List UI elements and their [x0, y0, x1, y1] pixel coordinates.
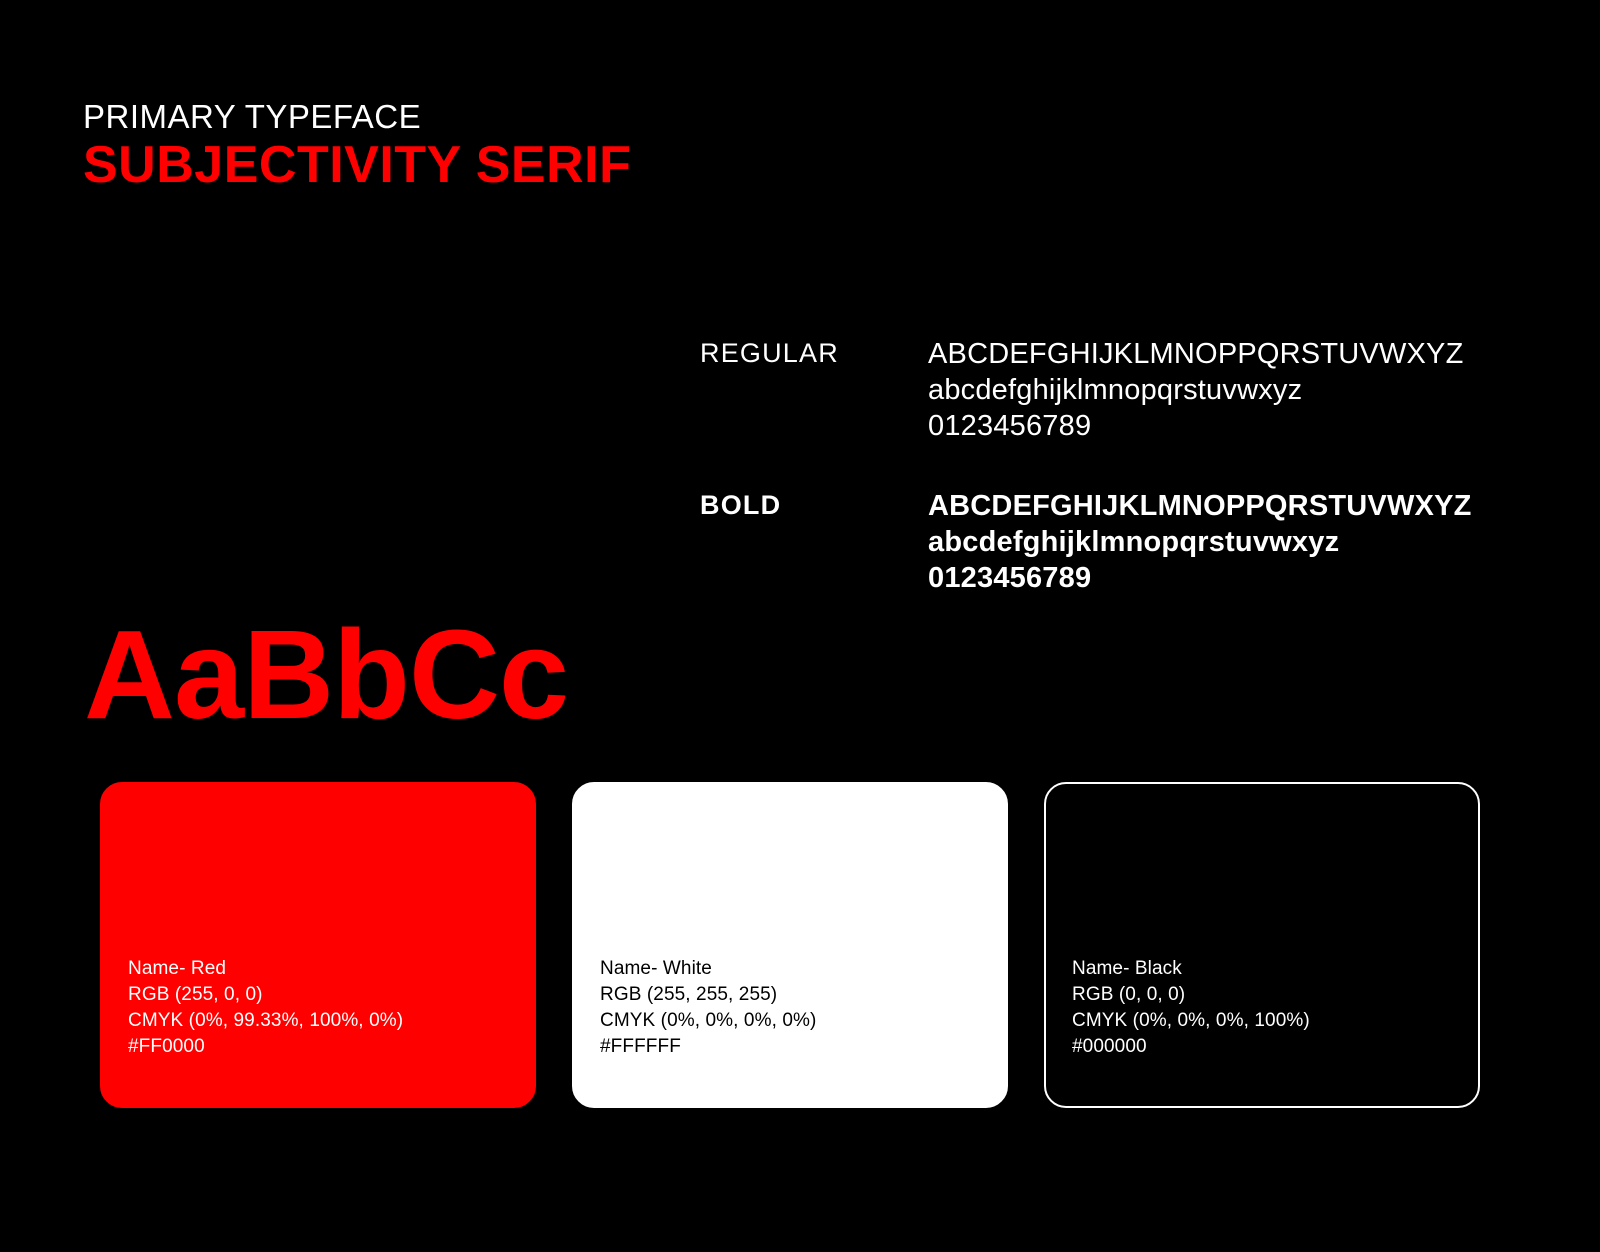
specimen-regular-glyphs: ABCDEFGHIJKLMNOPPQRSTUVWXYZ abcdefghijkl… — [928, 336, 1464, 444]
specimen-regular-weight-label: REGULAR — [700, 336, 928, 370]
color-swatch-white-hex: #FFFFFF — [600, 1034, 1006, 1060]
color-swatch-red-rgb: RGB (255, 0, 0) — [128, 982, 534, 1008]
color-swatch-black-hex: #000000 — [1072, 1034, 1478, 1060]
color-swatch-row: Name- Red RGB (255, 0, 0) CMYK (0%, 99.3… — [100, 782, 1480, 1108]
typeface-eyebrow-label: PRIMARY TYPEFACE — [83, 100, 631, 133]
specimen-bold-weight-label: BOLD — [700, 488, 928, 522]
specimen-regular-lowercase: abcdefghijklmnopqrstuvwxyz — [928, 372, 1464, 408]
color-swatch-black-name: Name- Black — [1072, 956, 1478, 982]
color-swatch-red-name: Name- Red — [128, 956, 534, 982]
page-title: SUBJECTIVITY SERIF — [83, 139, 631, 191]
color-swatch-red[interactable]: Name- Red RGB (255, 0, 0) CMYK (0%, 99.3… — [100, 782, 536, 1108]
color-swatch-white-rgb: RGB (255, 255, 255) — [600, 982, 1006, 1008]
specimen-bold-numerals: 0123456789 — [928, 560, 1472, 596]
brand-style-guide-page: PRIMARY TYPEFACE SUBJECTIVITY SERIF REGU… — [0, 0, 1600, 1252]
color-swatch-black-info: Name- Black RGB (0, 0, 0) CMYK (0%, 0%, … — [1072, 956, 1478, 1060]
specimen-bold-lowercase: abcdefghijklmnopqrstuvwxyz — [928, 524, 1472, 560]
specimen-regular: REGULAR ABCDEFGHIJKLMNOPPQRSTUVWXYZ abcd… — [700, 336, 1464, 444]
color-swatch-red-info: Name- Red RGB (255, 0, 0) CMYK (0%, 99.3… — [128, 956, 534, 1060]
specimen-regular-uppercase: ABCDEFGHIJKLMNOPPQRSTUVWXYZ — [928, 336, 1464, 372]
color-swatch-white[interactable]: Name- White RGB (255, 255, 255) CMYK (0%… — [572, 782, 1008, 1108]
color-swatch-black-cmyk: CMYK (0%, 0%, 0%, 100%) — [1072, 1008, 1478, 1034]
specimen-bold-glyphs: ABCDEFGHIJKLMNOPPQRSTUVWXYZ abcdefghijkl… — [928, 488, 1472, 596]
display-specimen-aabbcc: AaBbCc — [84, 612, 568, 738]
color-swatch-white-info: Name- White RGB (255, 255, 255) CMYK (0%… — [600, 956, 1006, 1060]
color-swatch-white-name: Name- White — [600, 956, 1006, 982]
color-swatch-white-cmyk: CMYK (0%, 0%, 0%, 0%) — [600, 1008, 1006, 1034]
specimen-bold: BOLD ABCDEFGHIJKLMNOPPQRSTUVWXYZ abcdefg… — [700, 488, 1472, 596]
color-swatch-red-hex: #FF0000 — [128, 1034, 534, 1060]
color-swatch-black-rgb: RGB (0, 0, 0) — [1072, 982, 1478, 1008]
specimen-regular-numerals: 0123456789 — [928, 408, 1464, 444]
page-header: PRIMARY TYPEFACE SUBJECTIVITY SERIF — [83, 100, 631, 191]
color-swatch-black[interactable]: Name- Black RGB (0, 0, 0) CMYK (0%, 0%, … — [1044, 782, 1480, 1108]
color-swatch-red-cmyk: CMYK (0%, 99.33%, 100%, 0%) — [128, 1008, 534, 1034]
specimen-bold-uppercase: ABCDEFGHIJKLMNOPPQRSTUVWXYZ — [928, 488, 1472, 524]
